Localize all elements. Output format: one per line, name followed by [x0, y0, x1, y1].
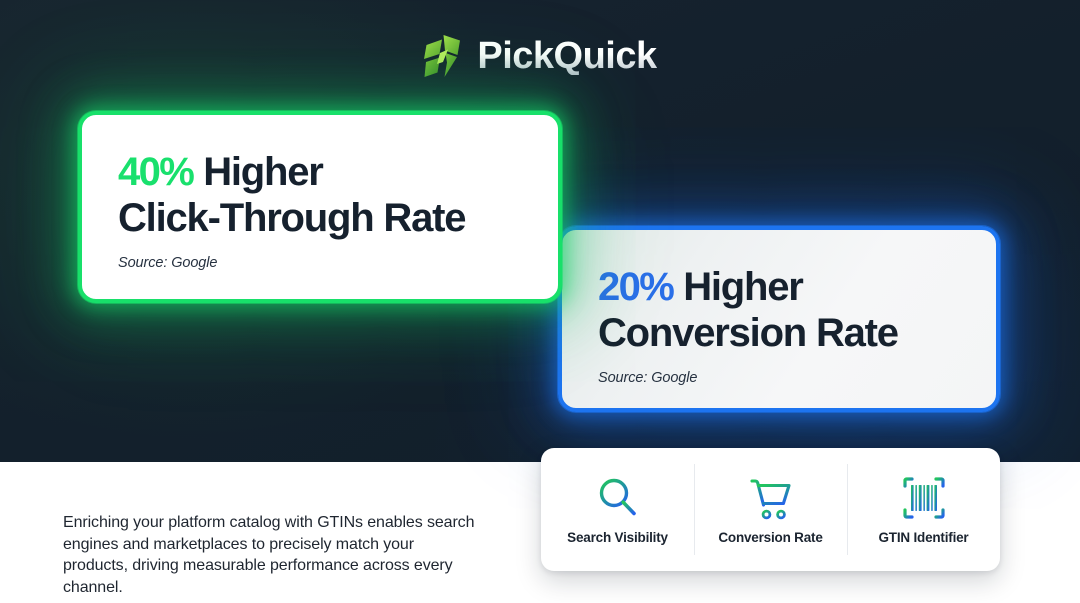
stat-headline-line2: Click-Through Rate [118, 195, 522, 241]
feature-label: Conversion Rate [718, 530, 822, 545]
barcode-scan-icon [901, 475, 947, 521]
pickquick-bolt-icon [423, 34, 463, 78]
infographic-canvas: PickQuick 40% Higher Click-Through Rate … [0, 0, 1080, 603]
magnifier-icon [595, 475, 641, 521]
feature-label: GTIN Identifier [878, 530, 968, 545]
brand-lockup: PickQuick [0, 28, 1080, 84]
shopping-cart-icon [748, 475, 794, 521]
stat-headline-line2: Conversion Rate [598, 310, 960, 356]
feature-panel: Search Visibility [541, 448, 1000, 571]
stat-card-conversion-rate: 20% Higher Conversion Rate Source: Googl… [558, 226, 1000, 412]
stat-headline: 20% Higher Conversion Rate [598, 264, 960, 357]
stat-card-click-through-rate: 40% Higher Click-Through Rate Source: Go… [78, 111, 562, 303]
feature-search-visibility[interactable]: Search Visibility [541, 448, 694, 571]
feature-gtin-identifier[interactable]: GTIN Identifier [847, 448, 1000, 571]
stat-headline: 40% Higher Click-Through Rate [118, 149, 522, 242]
stat-percent: 40% [118, 150, 193, 194]
brand-name: PickQuick [477, 37, 656, 75]
stat-headline-line1: Higher [203, 150, 322, 194]
feature-conversion-rate[interactable]: Conversion Rate [694, 448, 847, 571]
stat-headline-line1: Higher [683, 265, 802, 309]
stat-source: Source: Google [118, 255, 522, 271]
description-text: Enriching your platform catalog with GTI… [63, 512, 483, 598]
feature-label: Search Visibility [567, 530, 668, 545]
stat-percent: 20% [598, 265, 673, 309]
stat-source: Source: Google [598, 370, 960, 386]
